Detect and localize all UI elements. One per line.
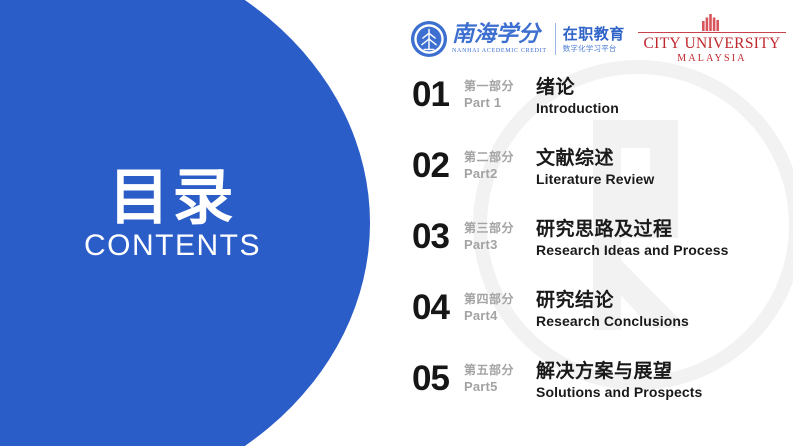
item-title: 文献综述 Literature Review — [536, 145, 792, 189]
contents-item[interactable]: 02 第二部分 Part2 文献综述 Literature Review — [412, 145, 792, 216]
item-title-en: Literature Review — [536, 170, 792, 189]
item-part-en: Part4 — [464, 307, 536, 324]
item-part: 第三部分 Part3 — [464, 216, 536, 253]
item-title: 研究结论 Research Conclusions — [536, 287, 792, 331]
item-title-en: Research Ideas and Process — [536, 241, 792, 260]
nanhai-seal-icon — [410, 20, 448, 58]
university-country: MALAYSIA — [677, 52, 746, 65]
item-number: 02 — [412, 145, 464, 187]
item-title: 解决方案与展望 Solutions and Prospects — [536, 358, 792, 402]
item-part-cn: 第四部分 — [464, 291, 536, 307]
item-part-en: Part 1 — [464, 94, 536, 111]
logo-rule — [638, 32, 786, 33]
item-part-cn: 第三部分 — [464, 220, 536, 236]
item-part-cn: 第一部分 — [464, 78, 536, 94]
item-title-cn: 研究结论 — [536, 288, 792, 312]
nanhai-logo: 南海学分 NANHAI ACEDEMIC CREDIT — [410, 16, 547, 62]
item-part: 第五部分 Part5 — [464, 358, 536, 395]
item-number: 05 — [412, 358, 464, 400]
item-title: 研究思路及过程 Research Ideas and Process — [536, 216, 792, 260]
item-number: 01 — [412, 74, 464, 116]
item-title-cn: 解决方案与展望 — [536, 359, 792, 383]
contents-item[interactable]: 05 第五部分 Part5 解决方案与展望 Solutions and Pros… — [412, 358, 792, 429]
university-name: CITY UNIVERSITY — [644, 35, 781, 52]
item-title-cn: 绪论 — [536, 75, 792, 99]
item-part-en: Part2 — [464, 165, 536, 182]
item-part: 第二部分 Part2 — [464, 145, 536, 182]
item-title: 绪论 Introduction — [536, 74, 792, 118]
sub-brand-line1: 在职教育 — [563, 25, 625, 43]
city-university-logo: CITY UNIVERSITY MALAYSIA — [636, 13, 788, 65]
tower-icon — [695, 13, 729, 31]
item-part: 第四部分 Part4 — [464, 287, 536, 324]
contents-list: 01 第一部分 Part 1 绪论 Introduction 02 第二部分 P… — [412, 74, 792, 429]
contents-item[interactable]: 01 第一部分 Part 1 绪论 Introduction — [412, 74, 792, 145]
item-title-cn: 文献综述 — [536, 146, 792, 170]
nanhai-brand-en: NANHAI ACEDEMIC CREDIT — [452, 47, 547, 56]
item-part: 第一部分 Part 1 — [464, 74, 536, 111]
item-part-en: Part3 — [464, 236, 536, 253]
item-number: 03 — [412, 216, 464, 258]
item-title-en: Research Conclusions — [536, 312, 792, 331]
item-part-cn: 第二部分 — [464, 149, 536, 165]
sub-brand-block: 在职教育 数字化学习平台 — [563, 25, 625, 54]
slide-canvas: 目录 CONTENTS 南海学分 NANHAI ACEDEMIC — [0, 0, 793, 446]
item-title-en: Introduction — [536, 99, 792, 118]
header-logo-bar: 南海学分 NANHAI ACEDEMIC CREDIT 在职教育 数字化学习平台… — [410, 13, 788, 65]
blue-ellipse-panel — [0, 0, 370, 446]
nanhai-brand-cn: 南海学分 — [452, 23, 547, 47]
item-number: 04 — [412, 287, 464, 329]
contents-item[interactable]: 03 第三部分 Part3 研究思路及过程 Research Ideas and… — [412, 216, 792, 287]
sub-brand-line2: 数字化学习平台 — [563, 43, 625, 54]
item-part-en: Part5 — [464, 378, 536, 395]
nanhai-brand-text: 南海学分 NANHAI ACEDEMIC CREDIT — [452, 23, 547, 56]
item-title-en: Solutions and Prospects — [536, 383, 792, 402]
item-title-cn: 研究思路及过程 — [536, 217, 792, 241]
contents-item[interactable]: 04 第四部分 Part4 研究结论 Research Conclusions — [412, 287, 792, 358]
logo-divider — [555, 23, 556, 55]
item-part-cn: 第五部分 — [464, 362, 536, 378]
